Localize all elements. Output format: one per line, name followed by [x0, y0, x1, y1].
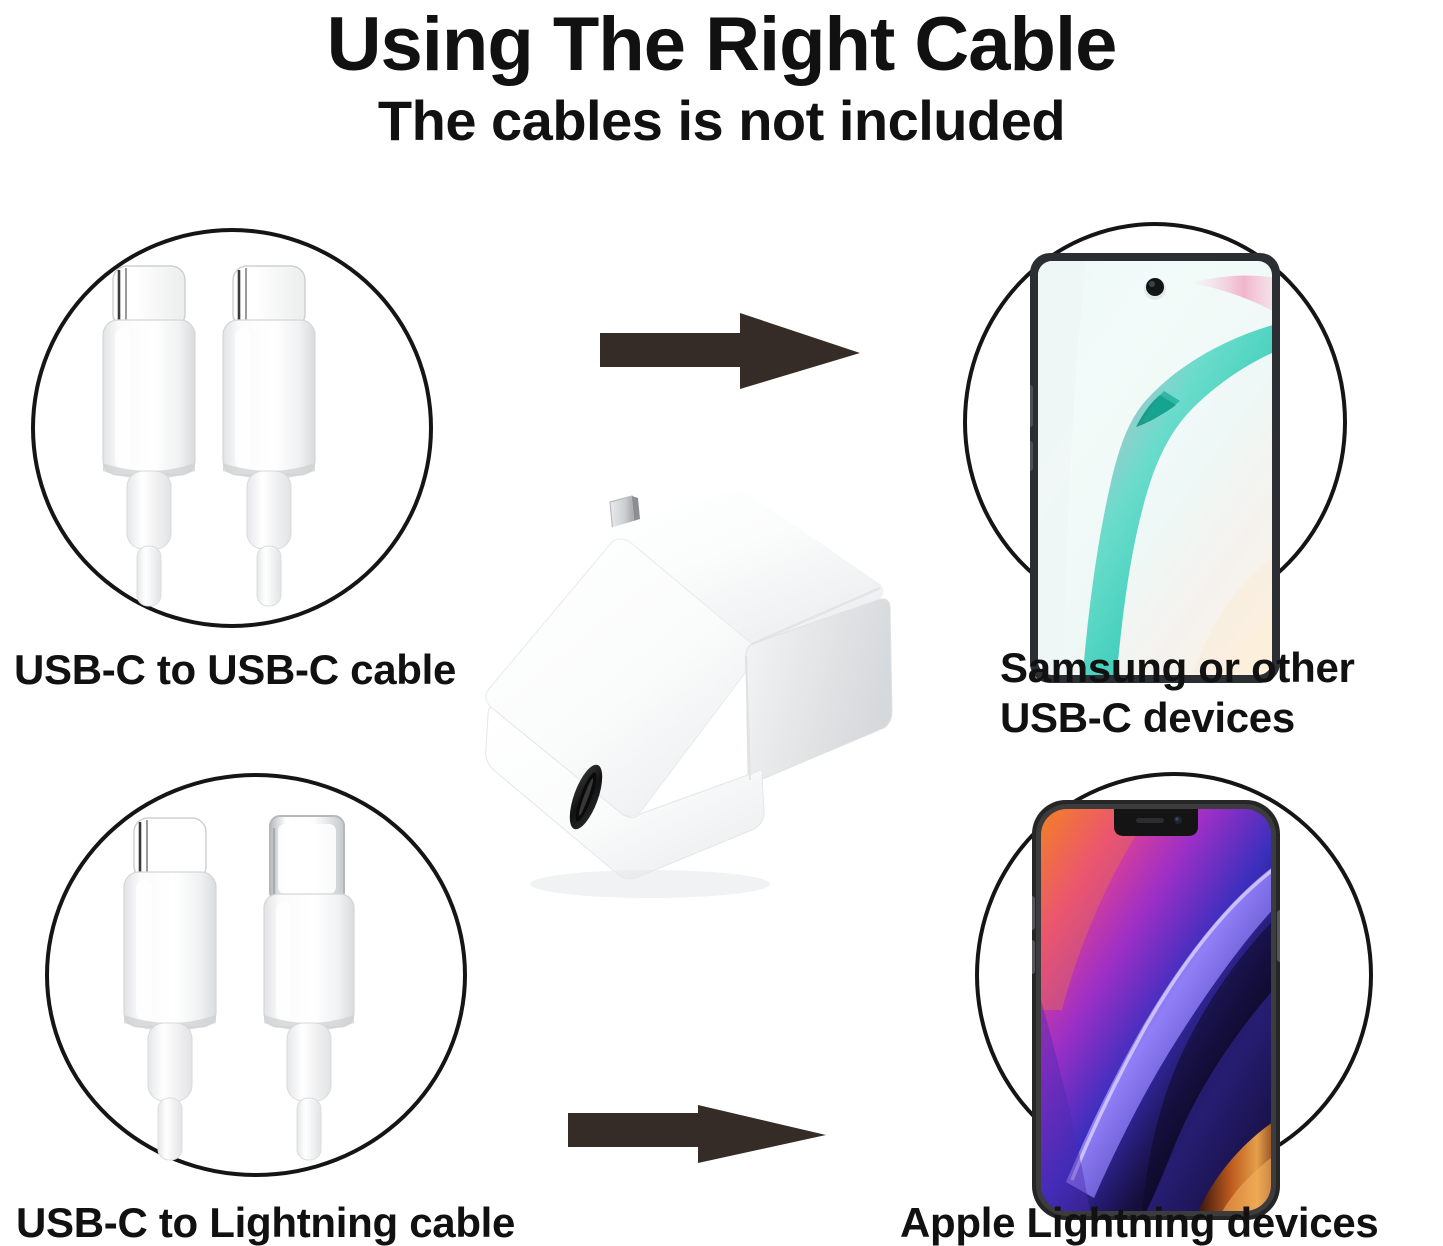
iphone-volume-up-button — [1032, 896, 1035, 930]
iphone-screen — [1041, 809, 1280, 1212]
samsung-front-camera — [1144, 278, 1166, 300]
usb-c-connector-right — [223, 266, 315, 606]
iphone-notch — [1114, 809, 1198, 836]
page-subtitle: The cables is not included — [0, 86, 1443, 152]
page-title: Using The Right Cable — [0, 0, 1443, 86]
caption-samsung-line2: USB-C devices — [1000, 693, 1420, 743]
lightning-connector-end — [264, 816, 354, 1160]
usb-c-to-lightning-cable-illustration — [120, 812, 390, 1162]
product-infographic: Using The Right Cable The cables is not … — [0, 0, 1443, 1246]
iphone-volume-down-button — [1032, 940, 1035, 974]
caption-samsung-line1: Samsung or other — [1000, 643, 1420, 693]
usb-c-connector-left — [103, 266, 195, 606]
samsung-phone-illustration — [1030, 253, 1280, 683]
samsung-screen — [1038, 261, 1280, 683]
usb-c-connector-end — [124, 818, 216, 1160]
iphone-illustration — [1032, 800, 1280, 1220]
samsung-side-button-volume — [1030, 385, 1033, 427]
caption-apple-devices: Apple Lightning devices — [900, 1198, 1378, 1246]
iphone-earpiece — [1136, 818, 1164, 823]
caption-usbc-to-usbc: USB-C to USB-C cable — [14, 645, 456, 695]
iphone-power-button — [1277, 910, 1280, 962]
caption-usbc-to-lightning: USB-C to Lightning cable — [16, 1198, 515, 1246]
right-arrow-icon-bottom — [568, 1105, 826, 1185]
caption-samsung-devices: Samsung or other USB-C devices — [1000, 643, 1420, 743]
usb-c-to-usb-c-cable-illustration — [95, 258, 385, 608]
right-arrow-icon-top — [600, 305, 860, 393]
wall-charger-illustration — [460, 480, 910, 920]
samsung-side-button-power — [1030, 441, 1033, 471]
heading-block: Using The Right Cable The cables is not … — [0, 0, 1443, 152]
